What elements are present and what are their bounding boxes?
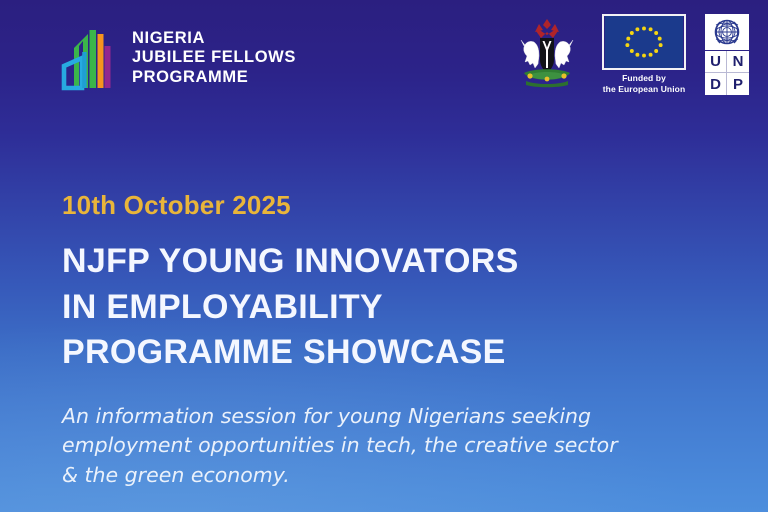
undp-letter-d: D [705, 73, 727, 95]
event-description: An information session for young Nigeria… [62, 402, 722, 491]
njfp-logo-lockup: NIGERIA JUBILEE FELLOWS PROGRAMME [58, 22, 296, 94]
undp-letter-p: P [727, 73, 749, 95]
headline-line-3: PROGRAMME SHOWCASE [62, 330, 722, 376]
headline-line-1: NJFP YOUNG INNOVATORS [62, 239, 722, 285]
undp-logo: U N D P [704, 14, 750, 95]
eu-caption-line-2: the European Union [603, 84, 686, 95]
partner-logo-group: Funded by the European Union [510, 14, 750, 95]
european-union-logo: Funded by the European Union [598, 14, 690, 95]
njfp-wordmark-line-1: NIGERIA [132, 29, 296, 48]
event-banner: NIGERIA JUBILEE FELLOWS PROGRAMME [0, 0, 768, 512]
undp-letter-grid: U N D P [705, 51, 749, 95]
njfp-wordmark-line-2: JUBILEE FELLOWS [132, 48, 296, 67]
eu-flag-icon [602, 14, 686, 70]
description-line-2: employment opportunities in tech, the cr… [62, 431, 722, 461]
eu-caption-line-1: Funded by [603, 73, 686, 84]
description-line-3: & the green economy. [62, 461, 722, 491]
njfp-building-mark-icon [58, 22, 120, 94]
description-line-1: An information session for young Nigeria… [62, 402, 722, 432]
page-title: NJFP YOUNG INNOVATORS IN EMPLOYABILITY P… [62, 239, 722, 376]
un-emblem-icon [705, 14, 749, 50]
banner-header: NIGERIA JUBILEE FELLOWS PROGRAMME [0, 0, 768, 112]
njfp-wordmark: NIGERIA JUBILEE FELLOWS PROGRAMME [132, 29, 296, 86]
undp-letter-n: N [727, 51, 749, 73]
njfp-wordmark-line-3: PROGRAMME [132, 68, 296, 87]
event-date: 10th October 2025 [62, 190, 722, 221]
headline-line-2: IN EMPLOYABILITY [62, 285, 722, 331]
undp-letter-u: U [705, 51, 727, 73]
banner-content: 10th October 2025 NJFP YOUNG INNOVATORS … [62, 190, 722, 490]
eu-funding-caption: Funded by the European Union [603, 73, 686, 95]
nigeria-coat-of-arms-icon [510, 14, 584, 92]
